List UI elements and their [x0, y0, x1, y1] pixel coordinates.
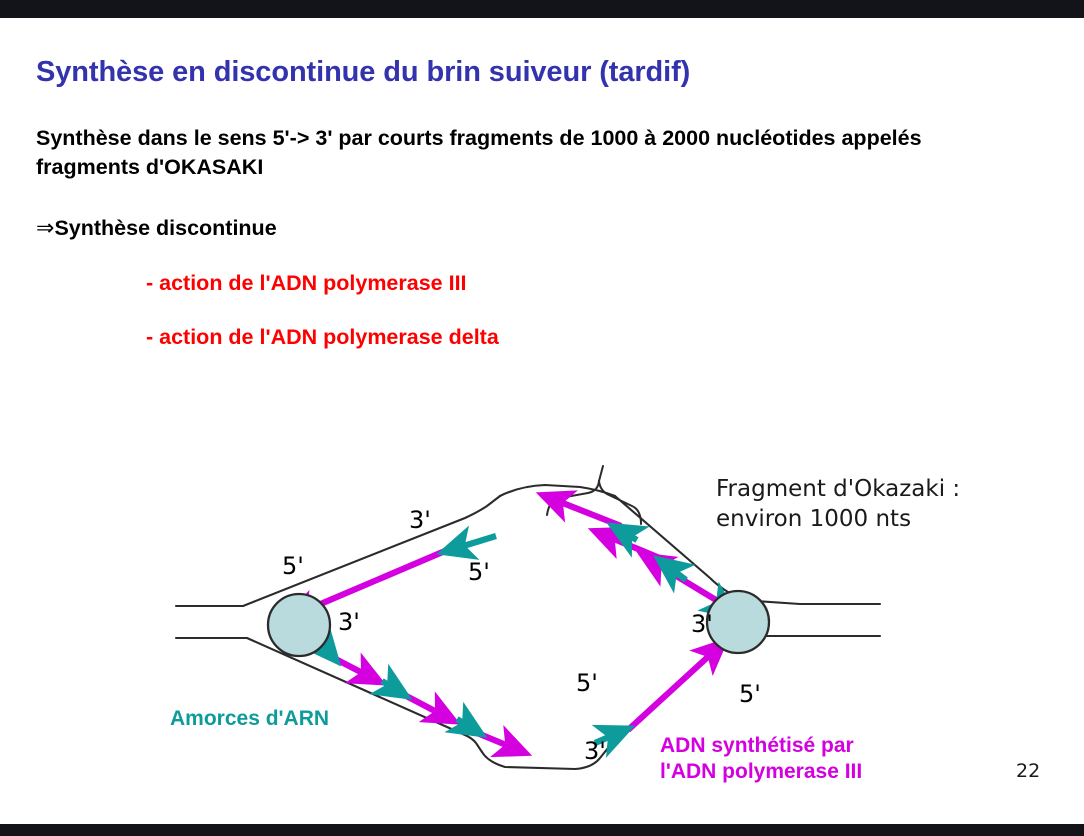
conclusion-line: ⇒Synthèse discontinue [36, 215, 277, 241]
helicase-circle-right [707, 591, 769, 653]
magenta-arrow-upper-right-1 [545, 496, 621, 526]
strand-lower-right-arm [608, 636, 745, 748]
rna-primer-callout: Amorces d'ARN [170, 707, 329, 730]
top-black-bar [0, 0, 1084, 18]
teal-primer-upper-left [447, 536, 496, 551]
helicase-circle-left [268, 594, 330, 656]
page-title: Synthèse en discontinue du brin suiveur … [36, 56, 690, 89]
body-paragraph: Synthèse dans le sens 5'-> 3' par courts… [36, 124, 1026, 182]
synth-dna-callout-line1: ADN synthétisé par [660, 734, 854, 757]
strand-lower-left-arm [247, 638, 482, 752]
double-arrow-icon: ⇒ [36, 215, 54, 240]
rna-primer-arrows [317, 528, 731, 743]
label-top-left-strand: 3' [409, 506, 431, 534]
bottom-black-bar [0, 824, 1084, 836]
label-top-left-outer: 5' [282, 552, 304, 580]
slide-canvas: Synthèse en discontinue du brin suiveur … [0, 0, 1084, 836]
label-bottom-right-outer: 5' [739, 680, 761, 708]
label-left-fork-lower: 3' [338, 608, 360, 636]
label-top-left-inner: 5' [468, 558, 490, 586]
conclusion-text: Synthèse discontinue [54, 216, 276, 240]
magenta-arrow-lower-right [628, 644, 722, 730]
strand-upper-left-arm [243, 496, 500, 606]
okazaki-callout-line2: environ 1000 nts [716, 506, 911, 532]
replication-bubble-diagram: 5' 3' 5' 3' 3' 5' 5' 3' Fragment d'Okaza… [0, 440, 1084, 800]
synth-dna-callout-line2: l'ADN polymerase III [660, 760, 862, 783]
label-bottom-mid: 3' [584, 737, 606, 765]
bullet-polymerase-delta: - action de l'ADN polymerase delta [146, 325, 499, 350]
bullet-polymerase-iii: - action de l'ADN polymerase III [146, 271, 467, 296]
okazaki-callout-line1: Fragment d'Okazaki : [716, 476, 960, 502]
label-bottom-right-inner: 5' [576, 669, 598, 697]
label-right-fork-upper: 3' [691, 610, 713, 638]
